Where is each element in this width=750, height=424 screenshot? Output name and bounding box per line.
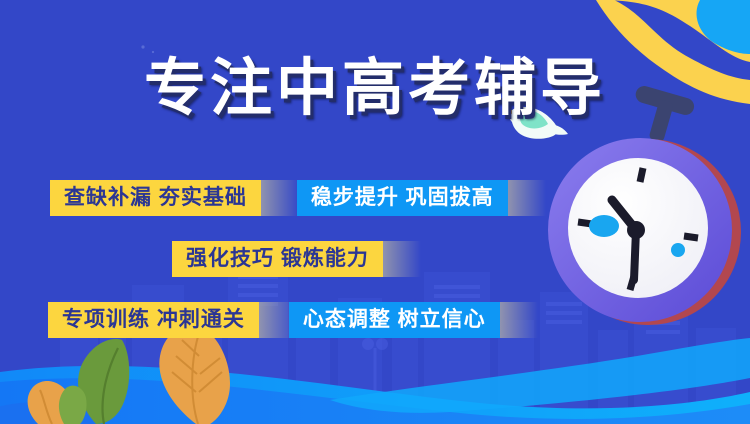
promo-banner: 专注中高考辅导 查缺补漏 夯实基础 稳步提升 巩固拔高 强化技巧 锻炼能力 专项… — [0, 0, 750, 424]
badge-label: 专项训练 冲刺通关 — [62, 302, 245, 338]
badge-tail — [261, 180, 299, 216]
badge-label: 心态调整 树立信心 — [303, 302, 486, 338]
badge-label: 稳步提升 巩固拔高 — [311, 180, 494, 216]
badge-row-1: 查缺补漏 夯实基础 稳步提升 巩固拔高 — [50, 180, 520, 216]
badge-label: 查缺补漏 夯实基础 — [64, 180, 247, 216]
badge-row-3: 专项训练 冲刺通关 心态调整 树立信心 — [48, 302, 518, 338]
badge-tail — [383, 241, 421, 277]
badge-qiang-hua-ji-qiao[interactable]: 强化技巧 锻炼能力 — [172, 241, 383, 277]
badge-label: 强化技巧 锻炼能力 — [186, 241, 369, 277]
stopwatch-dot-small — [671, 243, 685, 257]
page-title: 专注中高考辅导 — [0, 58, 750, 120]
badge-wen-bu-ti-sheng[interactable]: 稳步提升 巩固拔高 — [297, 180, 508, 216]
badge-xin-tai-tiao-zheng[interactable]: 心态调整 树立信心 — [289, 302, 500, 338]
badge-cha-que-bu-lou[interactable]: 查缺补漏 夯实基础 — [50, 180, 261, 216]
stopwatch-center-pin — [627, 221, 645, 239]
badge-row-2: 强化技巧 锻炼能力 — [172, 241, 417, 277]
stopwatch-dot-large — [589, 215, 619, 237]
badge-zhuan-xiang-xun-lian[interactable]: 专项训练 冲刺通关 — [48, 302, 259, 338]
